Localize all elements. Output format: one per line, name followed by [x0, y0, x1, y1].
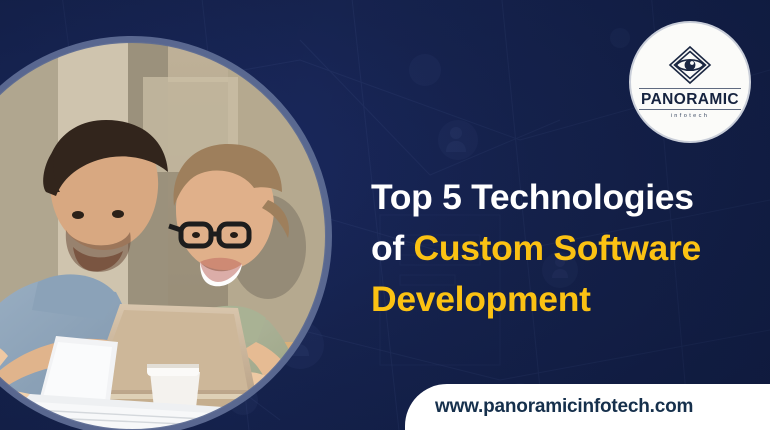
promo-banner: Top 5 Technologies of Custom Software De… [0, 0, 770, 430]
logo-badge[interactable]: PANORAMIC infotech [629, 21, 751, 143]
website-url[interactable]: www.panoramicinfotech.com [435, 396, 693, 418]
footer-url-bar: www.panoramicinfotech.com [405, 384, 770, 430]
hero-photo [0, 36, 332, 430]
headline-line-2-prefix: of [371, 228, 413, 268]
headline-line-2-accent: Custom Software [413, 228, 700, 268]
logo-subtext: infotech [671, 113, 710, 119]
hero-photo-ring [0, 36, 332, 430]
eye-in-diamond-icon [667, 45, 713, 85]
headline-line-3-accent: Development [371, 279, 591, 319]
logo-wordmark: PANORAMIC [639, 88, 741, 111]
page-title: Top 5 Technologies of Custom Software De… [371, 172, 763, 325]
headline-line-1: Top 5 Technologies [371, 177, 694, 217]
